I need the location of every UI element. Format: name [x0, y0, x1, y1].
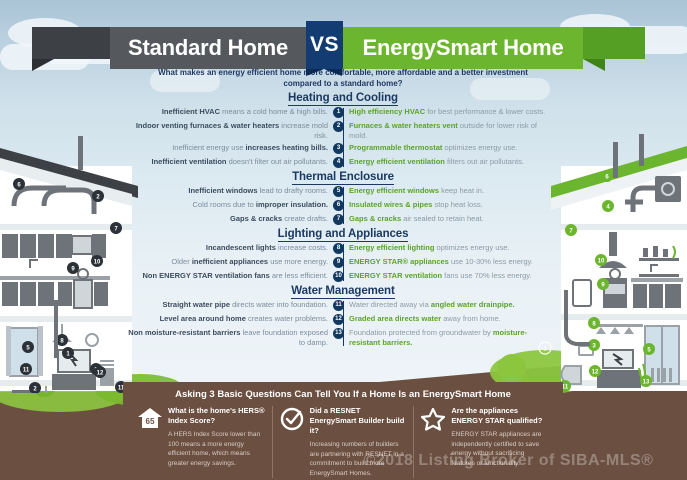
- comparison-row: Non ENERGY STAR ventilation fans are les…: [123, 271, 563, 283]
- row-number-badge: 12: [333, 314, 344, 325]
- svg-text:10: 10: [598, 259, 605, 265]
- section-title: Lighting and Appliances: [123, 228, 563, 240]
- subtitle-text: What makes an energy efficient home more…: [143, 67, 543, 89]
- vs-label: VS: [310, 33, 339, 57]
- watermark-text: ©2018 Listing Broker of SIBA-MLS®: [330, 452, 687, 470]
- energysmart-home-item: High efficiency HVAC for best performanc…: [344, 107, 554, 117]
- row-number-badge: 5: [333, 186, 344, 197]
- energysmart-home-item: Energy efficient lighting optimizes ener…: [344, 243, 554, 253]
- standard-home-illustration: 6 2 7 3 5 8 9 10 11 2 13: [0, 128, 140, 393]
- energysmart-home-item: Water directed away via angled water dra…: [344, 300, 554, 310]
- energysmart-home-item: Energy efficient windows keep heat in.: [344, 186, 554, 196]
- section-title: Heating and Cooling: [123, 92, 563, 104]
- energysmart-home-item: Energy efficient ventilation filters out…: [344, 157, 554, 167]
- comparison-row: Inefficient ventilation doesn't filter o…: [123, 157, 563, 169]
- energysmart-home-item: Programmable thermostat optimizes energy…: [344, 143, 554, 153]
- section-title: Thermal Enclosure: [123, 171, 563, 183]
- energysmart-home-item: Gaps & cracks air sealed to retain heat.: [344, 214, 554, 224]
- standard-home-item: Indoor venting furnaces & water heaters …: [123, 121, 333, 141]
- comparison-section: Heating and CoolingInefficient HVAC mean…: [123, 92, 563, 169]
- standard-home-item: Incandescent lights increase costs.: [123, 243, 333, 253]
- questions-panel-title: Asking 3 Basic Questions Can Tell You If…: [123, 382, 563, 400]
- svg-text:10: 10: [94, 260, 101, 266]
- energysmart-home-item: Graded area directs water away from home…: [344, 314, 554, 324]
- standard-home-item: Cold rooms due to improper insulation.: [123, 200, 333, 210]
- row-number-badge: 13: [333, 328, 344, 339]
- row-number-badge: 9: [333, 257, 344, 268]
- standard-home-item: Gaps & cracks create drafts.: [123, 214, 333, 224]
- standard-home-item: Straight water pipe directs water into f…: [123, 300, 333, 310]
- title-banner: VS Standard Home EnergySmart Home: [0, 27, 687, 69]
- question-heading: Are the appliances ENERGY STAR qualified…: [451, 406, 549, 426]
- section-title: Water Management: [123, 285, 563, 297]
- energysmart-home-item: Furnaces & water heaters vent outside fo…: [344, 121, 554, 141]
- row-number-badge: 11: [333, 300, 344, 311]
- row-number-badge: 7: [333, 214, 344, 225]
- standard-home-item: Older inefficient appliances use more en…: [123, 257, 333, 267]
- energysmart-home-item: ENERGY STAR ventilation fans use 70% les…: [344, 271, 554, 281]
- standard-home-title: Standard Home: [110, 27, 306, 69]
- standard-home-item: Non ENERGY STAR ventilation fans are les…: [123, 271, 333, 281]
- question-heading: What is the home's HERS® Index Score?: [168, 406, 266, 426]
- energysmart-home-illustration: 6 4 7 10 9 8 3 5 11: [551, 128, 687, 393]
- comparison-section: Lighting and AppliancesIncandescent ligh…: [123, 228, 563, 283]
- energysmart-home-title: EnergySmart Home: [343, 27, 583, 69]
- row-number-badge: 3: [333, 143, 344, 154]
- row-number-badge: 2: [333, 121, 344, 132]
- check-circle-icon: [279, 406, 305, 478]
- svg-text:65: 65: [146, 417, 155, 426]
- comparison-row: Gaps & cracks create drafts.7Gaps & crac…: [123, 214, 563, 226]
- infographic-canvas: 6 2 7 3 5 8 9 10 11 2 13: [0, 0, 687, 480]
- house-score-icon: 65: [137, 406, 163, 478]
- standard-home-item: Inefficient energy use increases heating…: [123, 143, 333, 153]
- row-number-badge: 4: [333, 157, 344, 168]
- row-number-badge: 10: [333, 271, 344, 282]
- vs-badge: VS: [306, 21, 343, 69]
- energysmart-home-item: ENERGY STAR® appliances use 10-30% less …: [344, 257, 554, 267]
- standard-home-item: Non moisture-resistant barriers leave fo…: [123, 328, 333, 348]
- energysmart-home-item: Foundation protected from groundwater by…: [344, 328, 554, 348]
- standard-home-item: Inefficient windows lead to drafty rooms…: [123, 186, 333, 196]
- comparison-section: Thermal EnclosureInefficient windows lea…: [123, 171, 563, 226]
- row-number-badge: 8: [333, 243, 344, 254]
- comparison-section: Water ManagementStraight water pipe dire…: [123, 285, 563, 348]
- energysmart-home-item: Insulated wires & pipes stop heat loss.: [344, 200, 554, 210]
- row-number-badge: 6: [333, 200, 344, 211]
- row-number-badge: 1: [333, 107, 344, 118]
- question-heading: Did a RESNET EnergySmart Builder build i…: [310, 406, 408, 436]
- standard-home-item: Inefficient HVAC means a cold home & hig…: [123, 107, 333, 117]
- question-block: 65What is the home's HERS® Index Score?A…: [131, 406, 272, 478]
- standard-home-item: Level area around home creates water pro…: [123, 314, 333, 324]
- comparison-sections: Heating and CoolingInefficient HVAC mean…: [123, 92, 563, 350]
- standard-home-item: Inefficient ventilation doesn't filter o…: [123, 157, 333, 167]
- question-body: A HERS Index Score lower than 100 means …: [168, 430, 266, 468]
